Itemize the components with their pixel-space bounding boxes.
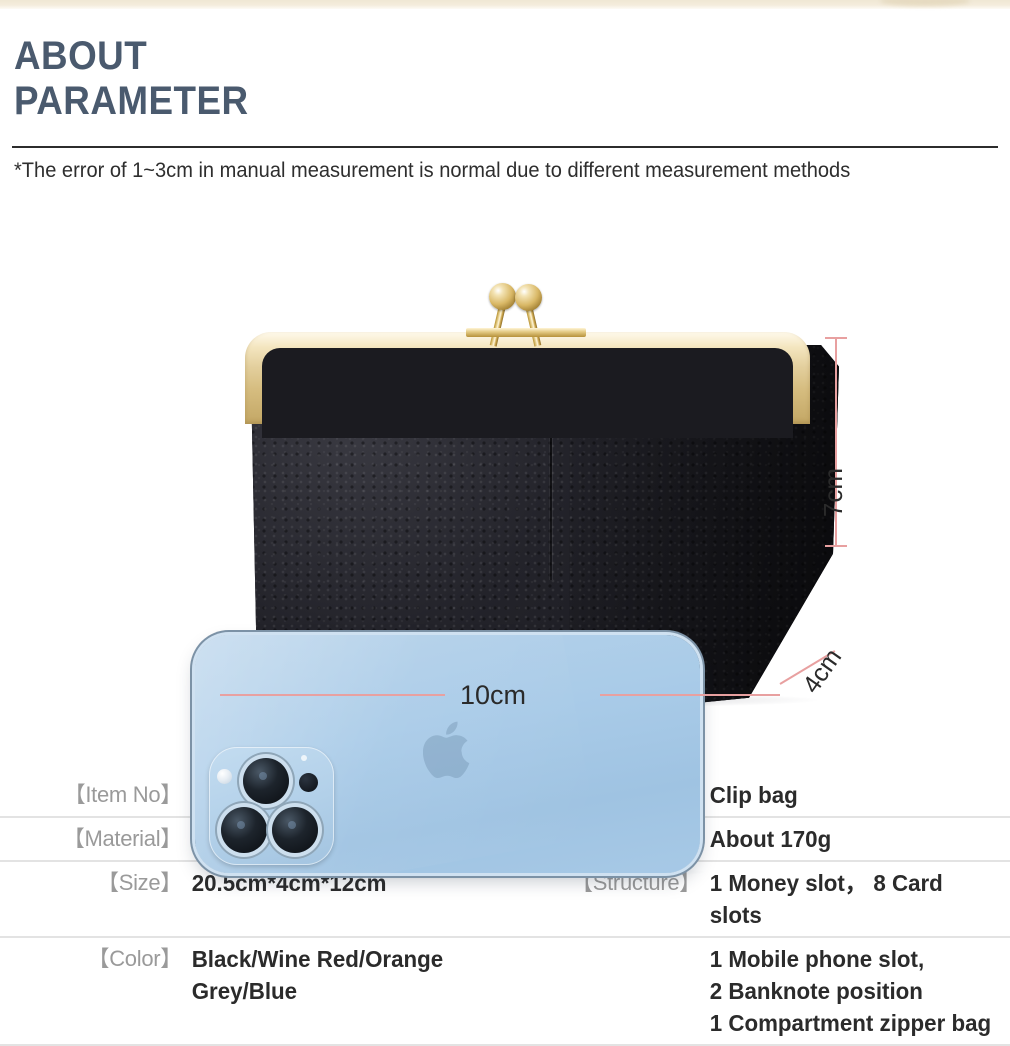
measure-label-width: 10cm [460, 681, 526, 709]
measure-line-width-right [600, 694, 780, 696]
top-strip-highlight [880, 0, 970, 6]
measure-tick-height-bottom [825, 545, 847, 547]
frame-opening [262, 348, 793, 438]
measure-tick-height-top [825, 337, 847, 339]
spec-value-style: Clip bag [701, 779, 1001, 811]
spec-cell-structure-cont: 1 Mobile phone slot, 2 Banknote position… [505, 938, 1010, 1044]
flash-icon [217, 769, 232, 784]
table-row: 【Color】 Black/Wine Red/Orange Grey/Blue … [0, 938, 1010, 1046]
title-divider [12, 146, 998, 148]
apple-logo-icon [423, 721, 477, 779]
measure-label-height: 7cm [820, 468, 846, 517]
spec-value-structure: 1 Money slot， 8 Card slots [701, 867, 1001, 931]
clasp-ball-left [489, 283, 516, 310]
spec-label-material: 【Material】 [0, 823, 182, 855]
spec-cell-color: 【Color】 Black/Wine Red/Orange Grey/Blue [0, 938, 505, 1044]
clasp-ball-right [515, 284, 542, 311]
camera-lens-bottom-left [221, 807, 267, 853]
spec-label-color: 【Color】 [0, 943, 182, 975]
spec-label-item-no: 【Item No】 [0, 779, 182, 811]
spec-value-structure-cont: 1 Mobile phone slot, 2 Banknote position… [701, 943, 1001, 1039]
measurement-disclaimer: *The error of 1~3cm in manual measuremen… [14, 158, 969, 184]
lidar-sensor-icon [299, 773, 318, 792]
top-edge-strip [0, 0, 1010, 9]
measure-line-width-left [220, 694, 445, 696]
spec-value-color: Black/Wine Red/Orange Grey/Blue [182, 943, 495, 1007]
iphone-mockup [195, 635, 700, 873]
spec-label-size: 【Size】 [0, 867, 182, 899]
product-photo: 7cm 10cm 4cm [0, 205, 1010, 750]
camera-lens-top [243, 758, 289, 804]
spec-value-weight: About 170g [701, 823, 1001, 855]
microphone-dot-icon [301, 755, 307, 761]
clasp-bar [466, 328, 586, 337]
camera-lens-bottom-right [272, 807, 318, 853]
camera-bump [209, 747, 334, 865]
page-title: ABOUT PARAMETER [14, 34, 248, 124]
